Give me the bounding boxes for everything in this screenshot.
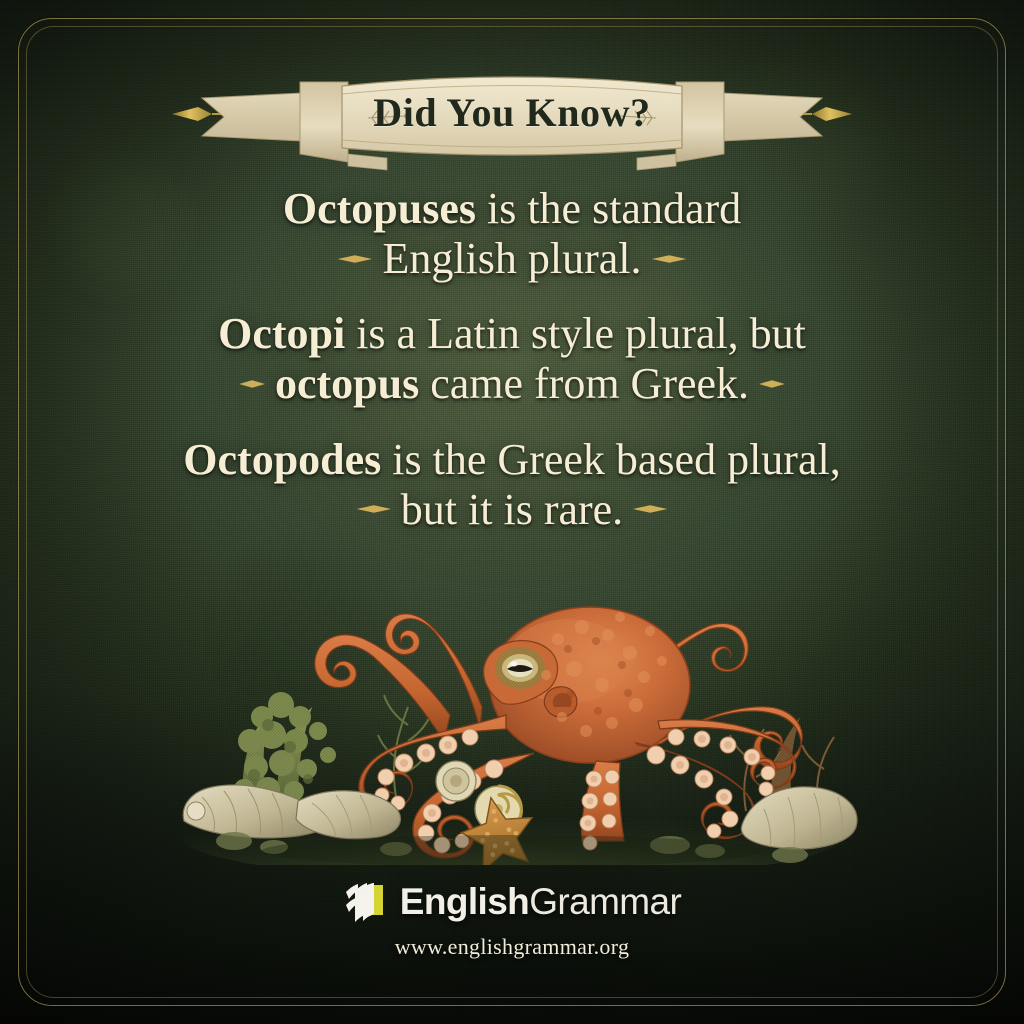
octopus-illustration-graphic [150, 565, 874, 865]
poster-canvas: Did You Know? Octopuses is the standardE… [0, 0, 1024, 1024]
fact-text: but it is rare. [391, 485, 633, 535]
divider-rule-left [131, 502, 391, 516]
divider-rule-right [759, 377, 954, 391]
book-pages-icon [343, 879, 387, 923]
banner: Did You Know? [0, 62, 1024, 172]
octopus-body [484, 607, 690, 763]
fact-phrase: is a Latin style plural, but [345, 309, 806, 358]
fact-block: Octopodes is the Greek based plural,but … [0, 435, 1024, 534]
fact-line: but it is rare. [0, 485, 1024, 535]
fact-keyword: Octopuses [283, 184, 476, 233]
octopus-seafloor-illustration [150, 565, 874, 865]
brand-name-light: Grammar [529, 881, 681, 922]
fact-text: Octopodes is the Greek based plural, [173, 435, 850, 484]
fact-phrase: is the Greek based plural, [381, 435, 840, 484]
fact-keyword: octopus [275, 359, 419, 408]
fact-line: Octopodes is the Greek based plural, [0, 435, 1024, 485]
fact-text: English plural. [372, 234, 651, 284]
fact-line: Octopuses is the standard [0, 184, 1024, 234]
fact-block: Octopuses is the standardEnglish plural. [0, 184, 1024, 283]
brand-logo[interactable]: EnglishGrammar [0, 879, 1024, 923]
banner-title: Did You Know? [0, 89, 1024, 136]
fact-phrase: English plural. [382, 234, 641, 283]
fact-line: octopus came from Greek. [0, 359, 1024, 409]
fact-phrase: but it is rare. [401, 485, 623, 534]
octopus-eye [495, 647, 545, 689]
brand-name-bold: English [400, 881, 529, 922]
spiral-shell-small [436, 761, 476, 801]
fact-line: English plural. [0, 234, 1024, 284]
fact-text: octopus came from Greek. [265, 359, 759, 409]
fact-keyword: Octopi [218, 309, 345, 358]
divider-rule-left [70, 377, 265, 391]
divider-rule-left [112, 252, 372, 266]
footer: EnglishGrammar www.englishgrammar.org [0, 879, 1024, 960]
fact-phrase: came from Greek. [419, 359, 749, 408]
divider-rule-right [633, 502, 893, 516]
fact-phrase: is the standard [476, 184, 741, 233]
facts-list: Octopuses is the standardEnglish plural.… [0, 184, 1024, 560]
divider-rule-right [652, 252, 912, 266]
clam-shell-right [741, 787, 857, 849]
fact-keyword: Octopodes [183, 435, 381, 484]
fact-line: Octopi is a Latin style plural, but [0, 309, 1024, 359]
brand-name: EnglishGrammar [400, 883, 681, 920]
site-url[interactable]: www.englishgrammar.org [0, 934, 1024, 960]
fact-text: Octopuses is the standard [273, 184, 751, 233]
fact-block: Octopi is a Latin style plural, butoctop… [0, 309, 1024, 408]
fact-text: Octopi is a Latin style plural, but [208, 309, 816, 358]
